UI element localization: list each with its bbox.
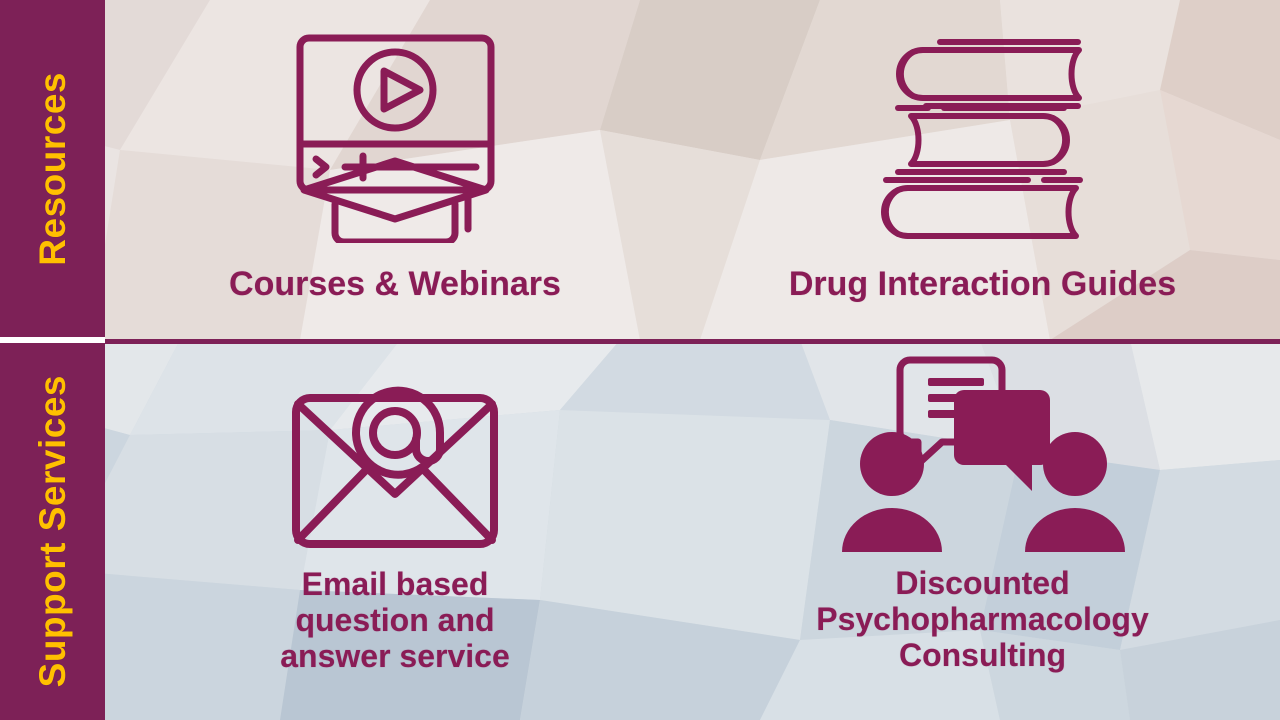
sidebar: Resources Support Services	[0, 0, 105, 720]
video-lesson-icon	[288, 18, 503, 243]
card-drug-interaction-guides-label: Drug Interaction Guides	[789, 265, 1176, 303]
card-courses-webinars-label: Courses & Webinars	[229, 265, 561, 303]
content-area: Courses & Webinars	[105, 0, 1280, 720]
email-at-icon	[280, 358, 510, 553]
card-email-qa-service-label: Email basedquestion andanswer service	[280, 567, 510, 674]
card-email-qa-service[interactable]: Email basedquestion andanswer service	[105, 358, 685, 674]
consulting-people-icon	[838, 352, 1128, 552]
sidebar-item-support-services[interactable]: Support Services	[0, 343, 105, 720]
sidebar-item-resources[interactable]: Resources	[0, 0, 105, 337]
card-drug-interaction-guides[interactable]: Drug Interaction Guides	[685, 18, 1280, 303]
slide-root: Resources Support Services	[0, 0, 1280, 720]
card-consulting[interactable]: DiscountedPsychopharmacologyConsulting	[685, 352, 1280, 673]
card-courses-webinars[interactable]: Courses & Webinars	[105, 18, 685, 303]
sidebar-item-support-services-label: Support Services	[32, 375, 74, 687]
person-left-silhouette	[842, 432, 942, 552]
book-stack-icon	[868, 18, 1098, 243]
card-consulting-label: DiscountedPsychopharmacologyConsulting	[816, 566, 1149, 673]
sidebar-item-resources-label: Resources	[32, 72, 74, 266]
